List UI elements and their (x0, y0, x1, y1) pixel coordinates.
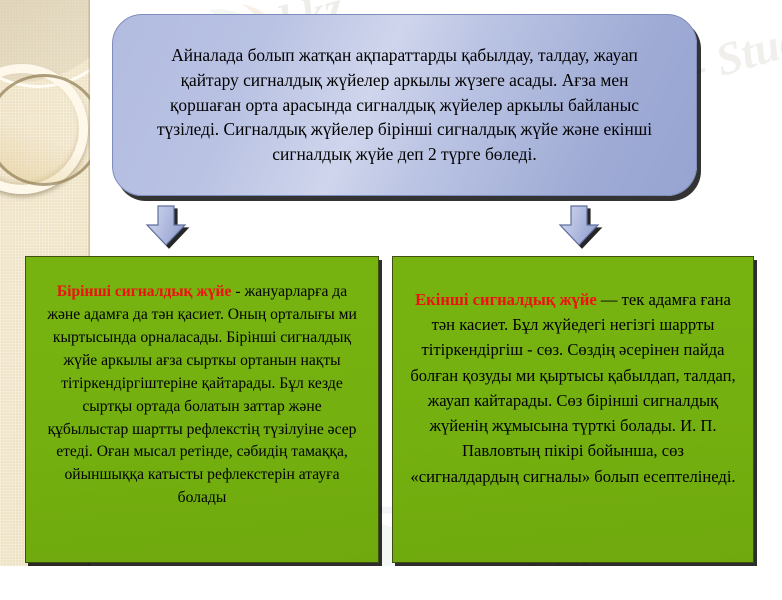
first-signal-system-heading: Бірінші сигналдық жүйе (57, 283, 232, 300)
second-signal-system-text: Екінші сигналдық жүйе — тек адамға ғана … (393, 257, 753, 489)
arrow-down-icon-left (145, 205, 187, 247)
slide-canvas: Stud.kz Stud.kz Stud.kz - Stud.kz Stud.k… (0, 0, 782, 600)
second-signal-system-heading: Екінші сигналдық жүйе (415, 290, 597, 309)
first-signal-system-body: - жануарларға да және адамға да тән қаси… (47, 283, 357, 506)
first-signal-system-text: Бірінші сигналдық жүйе - жануарларға да … (26, 257, 378, 510)
first-signal-system-box: Бірінші сигналдық жүйе - жануарларға да … (25, 256, 379, 563)
arrow-down-icon-right (558, 205, 600, 247)
intro-callout-text: Айналада болып жатқан ақпараттарды қабыл… (147, 43, 662, 167)
intro-callout-box: Айналада болып жатқан ақпараттарды қабыл… (112, 14, 697, 196)
bottom-strip (0, 566, 782, 600)
decor-ring-thin (0, 74, 90, 186)
second-signal-system-box: Екінші сигналдық жүйе — тек адамға ғана … (392, 256, 754, 563)
second-signal-system-body: — тек адамға ғана тән касиет. Бұл жүйеде… (410, 290, 735, 486)
